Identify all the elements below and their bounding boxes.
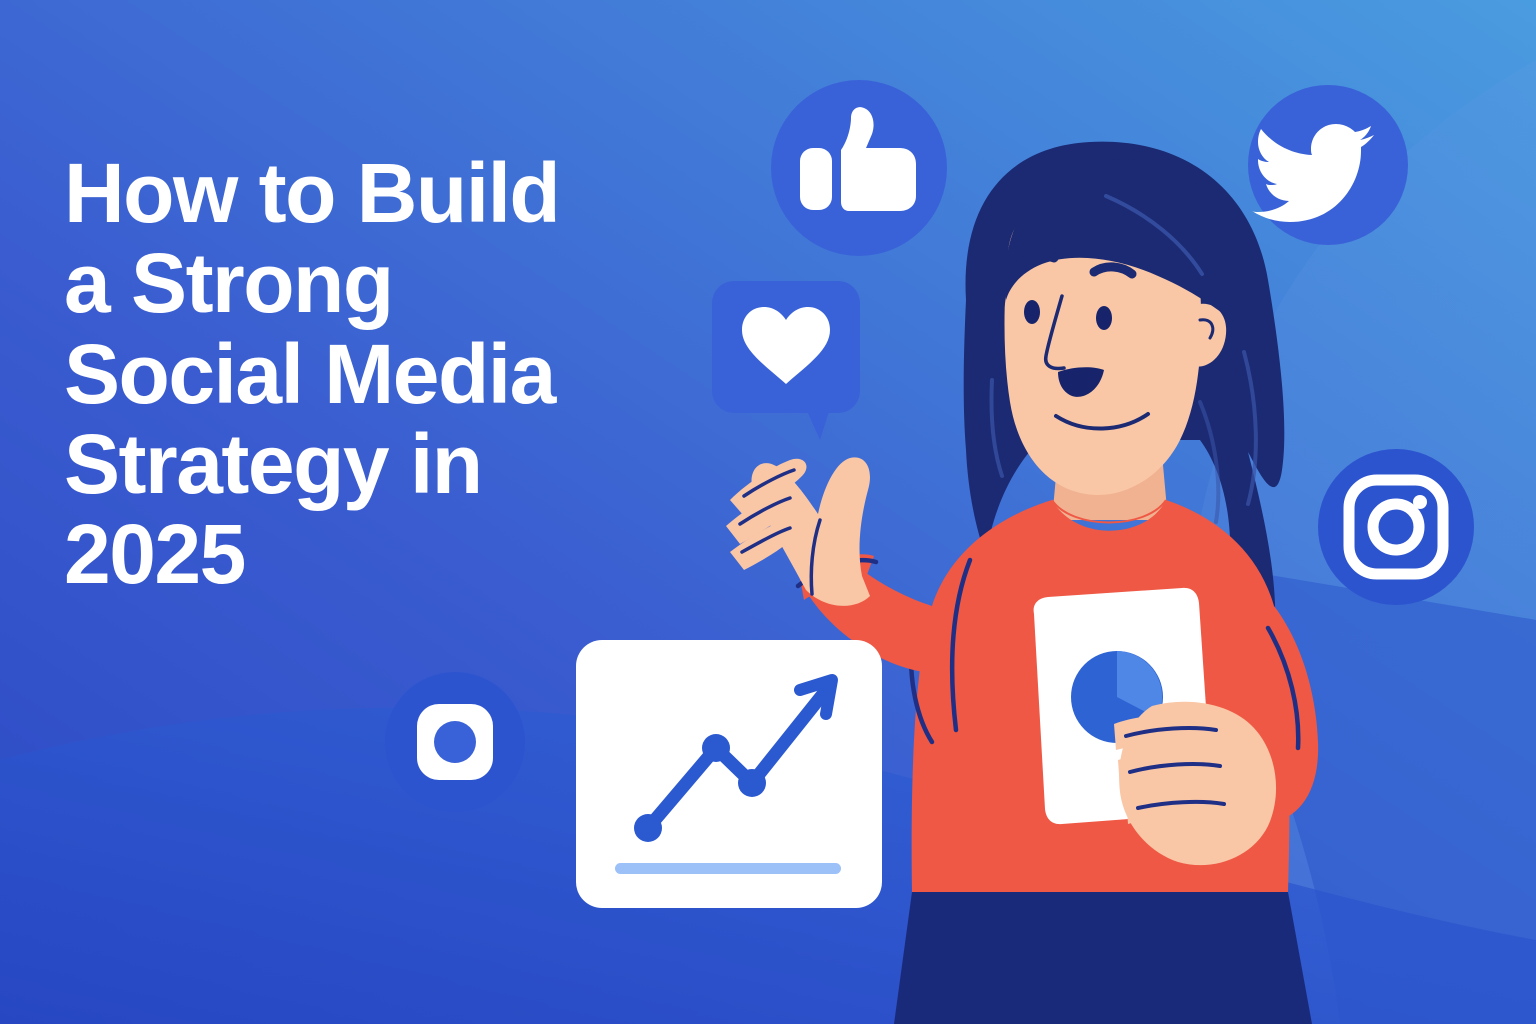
instagram-circle <box>1318 449 1474 605</box>
chart-point <box>634 814 662 842</box>
speech-bubble-tail <box>802 396 834 440</box>
eye-left <box>1024 300 1040 324</box>
camera-app-icon[interactable] <box>385 672 525 812</box>
chart-point <box>702 734 730 762</box>
line-chart-card[interactable] <box>576 640 882 908</box>
camera-icon-lens <box>434 721 476 763</box>
chart-caption-bar <box>615 863 841 874</box>
eye-right <box>1096 306 1112 330</box>
skirt <box>894 892 1312 1024</box>
instagram-flash-dot <box>1413 495 1427 509</box>
twitter-bird-icon[interactable] <box>1248 85 1408 245</box>
instagram-icon[interactable] <box>1318 449 1474 605</box>
thumbs-up-base <box>800 148 832 210</box>
page-title: How to Build a Strong Social Media Strat… <box>64 148 724 599</box>
thumbs-up-icon[interactable] <box>771 80 947 256</box>
chart-point <box>738 769 766 797</box>
hero-banner: How to Build a Strong Social Media Strat… <box>0 0 1536 1024</box>
heart-speech-bubble[interactable] <box>712 281 860 440</box>
